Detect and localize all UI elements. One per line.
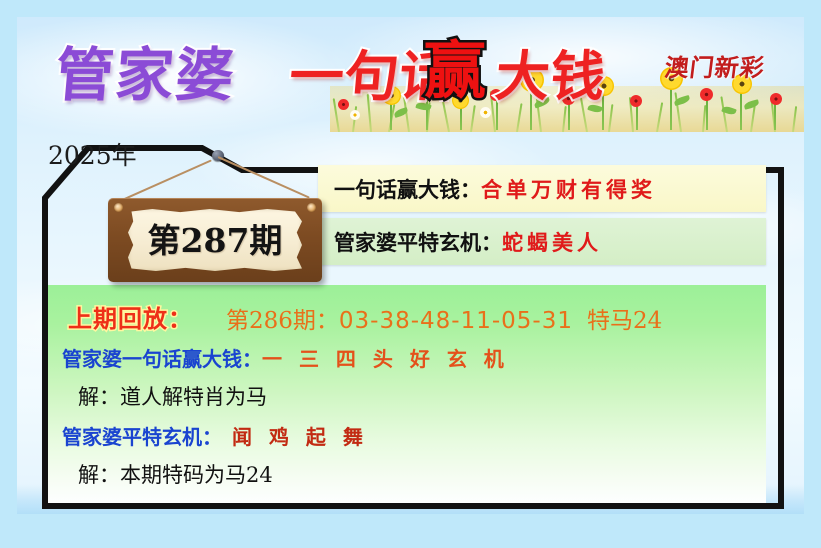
site-logo-text: 管家婆 [52,28,239,112]
replay-line-slogan: 管家婆一句话赢大钱：一 三 四 头 好 玄 机 [62,343,509,372]
replay-title: 上期回放： [68,299,193,334]
previous-issue-replay-panel: 上期回放： 第286期：03-38-48-11-05-31特马24 管家婆一句话… [48,285,766,503]
panel-label: 一句话赢大钱： [334,174,481,204]
slogan-right: 大钱 [493,32,610,111]
replay-issue-prefix: 第286期： [226,308,339,334]
replay-special-number: 特马24 [587,308,662,334]
masthead: 管家婆 一句话 赢 大钱 澳门新彩 [0,0,821,135]
panel-value: 蛇蝎美人 [502,227,602,257]
replay-line-value: 闻 鸡 起 舞 [232,425,368,449]
panel-value: 合单万财有得奖 [481,174,656,204]
replay-draw-result: 第286期：03-38-48-11-05-31特马24 [226,301,662,335]
panel-label: 管家婆平特玄机： [334,227,502,257]
panel-slogan-prediction: 一句话赢大钱： 合单万财有得奖 [318,165,766,212]
panel-pingte-prediction: 管家婆平特玄机： 蛇蝎美人 [318,218,766,265]
sign-board: 第287期 [108,198,322,282]
replay-line-value: 一 三 四 头 好 玄 机 [262,347,509,371]
issue-number: 第287期 [148,224,283,257]
site-brand-label: 澳门新彩 [663,48,767,83]
replay-line-pingte: 管家婆平特玄机：闻 鸡 起 舞 [62,421,368,450]
replay-line-key: 管家婆平特玄机： [62,425,222,449]
replay-explain-slogan: 解：道人解特肖为马 [78,381,267,411]
rope-left [120,159,212,202]
replay-explain-pingte: 解：本期特码为马24 [78,459,273,489]
replay-line-key: 管家婆一句话赢大钱： [62,347,262,371]
slogan-win-char: 赢 [424,20,486,110]
rope-right [218,156,310,199]
poster-canvas: 管家婆 一句话 赢 大钱 澳门新彩 2025年 第287期 一句话赢大钱： 合单… [0,0,821,548]
replay-numbers: 03-38-48-11-05-31 [339,308,573,334]
hanging-sign: 第287期 [100,150,330,285]
sign-parchment: 第287期 [128,209,302,271]
